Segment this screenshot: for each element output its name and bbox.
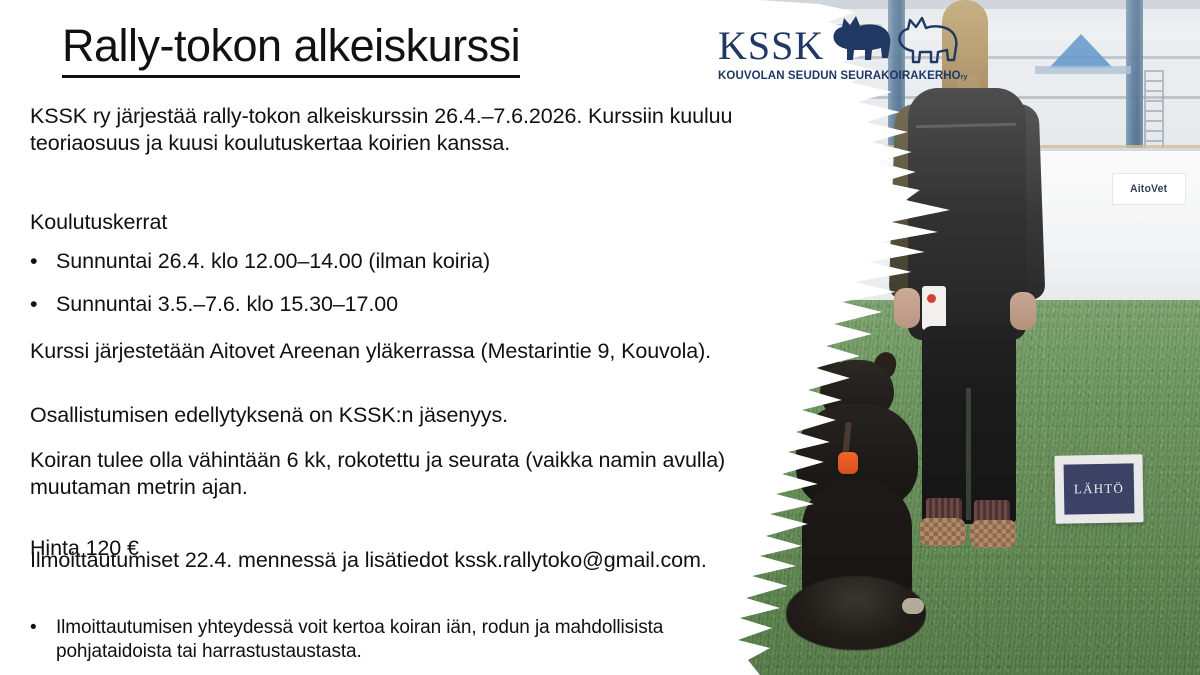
venue-paragraph: Kurssi järjestetään Aitovet Areenan yläk…: [30, 338, 730, 365]
course-marker-card: [815, 272, 844, 305]
note-bullet: • Ilmoittautumisen yhteydessä voit kerto…: [30, 616, 720, 663]
scottie-dog-outline-icon: [899, 18, 956, 62]
sponsor-banner: AitoVet: [1112, 173, 1186, 205]
membership-paragraph: Osallistumisen edellytyksenä on KSSK:n j…: [30, 402, 730, 429]
signup-paragraph: Ilmoittautumiset 22.4. mennessä ja lisät…: [30, 547, 730, 574]
dog-tail-fur: [786, 576, 926, 650]
bullet-icon: •: [30, 291, 56, 318]
handler-shoe: [970, 520, 1016, 548]
sponsor-banner: AitoVet: [772, 173, 846, 205]
handler-shoe: [920, 518, 966, 546]
sessions-heading: Koulutuskerrat: [30, 209, 167, 236]
intro-paragraph: KSSK ry järjestää rally-tokon alkeiskurs…: [30, 103, 750, 157]
scottie-dog-filled-icon: [833, 16, 890, 60]
session-bullet-2-label: Sunnuntai 3.5.–7.6. klo 15.30–17.00: [56, 291, 398, 318]
start-sign-plate: LÄHTÖ: [1064, 463, 1135, 514]
start-sign: LÄHTÖ: [1054, 454, 1143, 524]
sponsor-banner-label: AitoVet: [1130, 183, 1167, 195]
start-sign-label: LÄHTÖ: [1074, 481, 1124, 498]
session-bullet-2: • Sunnuntai 3.5.–7.6. klo 15.30–17.00: [30, 291, 398, 318]
handler-hand-right: [1010, 292, 1036, 330]
leg-gap: [966, 388, 971, 520]
slide-text-column: Rally-tokon alkeiskurssi KSSK ry järjest…: [0, 0, 760, 675]
kssk-logo: KSSK KOUVOLAN SEUDUN SEURAKOIRAKERHOry: [718, 18, 954, 90]
handler-hand-left: [894, 288, 920, 328]
note-bullet-label: Ilmoittautumisen yhteydessä voit kertoa …: [56, 616, 720, 663]
slide-canvas: AitoVet AitoVet AitoVet AitoVet: [0, 0, 1200, 675]
treat-pouch-dot: [927, 294, 936, 303]
session-bullet-1-label: Sunnuntai 26.4. klo 12.00–14.00 (ilman k…: [56, 248, 490, 275]
dog-tag-icon: [838, 452, 858, 474]
bullet-icon: •: [30, 616, 56, 640]
page-title: Rally-tokon alkeiskurssi: [62, 22, 520, 70]
dog-paw: [902, 598, 924, 614]
bullet-icon: •: [30, 248, 56, 275]
page-title-text: Rally-tokon alkeiskurssi: [62, 20, 520, 78]
kssk-dog-icons: [828, 10, 958, 72]
dog-requirements-paragraph: Koiran tulee olla vähintään 6 kk, rokote…: [30, 447, 730, 501]
sponsor-banner-label: AitoVet: [790, 183, 827, 195]
session-bullet-1: • Sunnuntai 26.4. klo 12.00–14.00 (ilman…: [30, 248, 490, 275]
kssk-suffix: ry: [961, 74, 968, 81]
kssk-wordmark: KSSK: [718, 26, 824, 66]
treat-pouch: [922, 286, 946, 330]
